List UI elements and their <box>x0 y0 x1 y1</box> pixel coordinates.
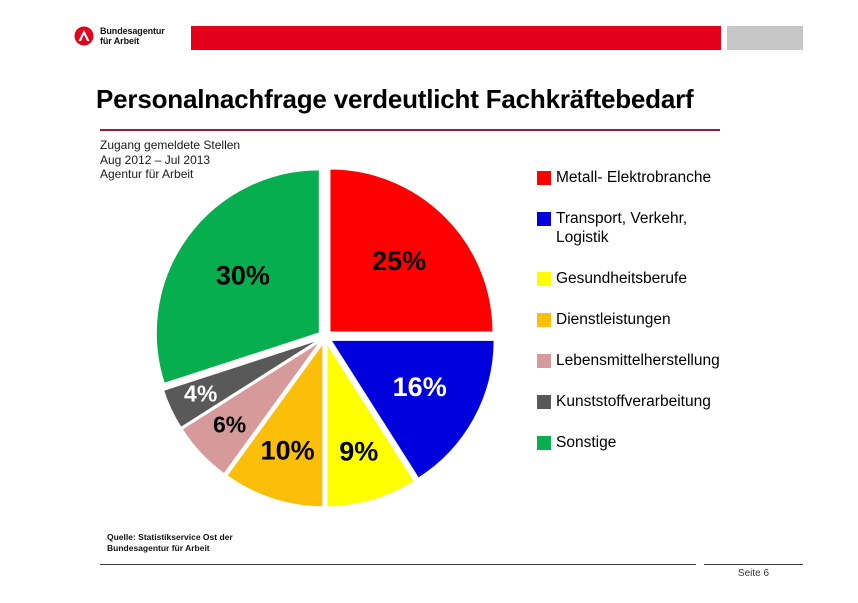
legend-swatch-icon <box>537 313 551 327</box>
legend-swatch-icon <box>537 395 551 409</box>
page-number: Seite 6 <box>704 568 803 579</box>
slide-canvas: Bundesagentur für Arbeit Personalnachfra… <box>0 0 858 603</box>
bundesagentur-logo-text: Bundesagentur für Arbeit <box>100 26 165 46</box>
legend-item-label: Sonstige <box>556 433 616 452</box>
legend-item-label: Kunststoffverarbeitung <box>556 392 711 411</box>
legend-item-label: Transport, Verkehr, Logistik <box>556 209 687 247</box>
legend-item[interactable]: Metall- Elektrobranche <box>537 168 837 187</box>
legend-item[interactable]: Transport, Verkehr, Logistik <box>537 209 837 247</box>
legend-item-label: Metall- Elektrobranche <box>556 168 711 187</box>
pie-slice-group <box>156 169 494 507</box>
chart-legend: Metall- ElektrobrancheTransport, Verkehr… <box>537 168 837 474</box>
pie-chart-svg: 25%16%9%10%6%4%30% <box>155 160 505 520</box>
title-divider <box>100 129 720 131</box>
legend-item[interactable]: Kunststoffverarbeitung <box>537 392 837 411</box>
legend-item-label: Dienstleistungen <box>556 310 671 329</box>
page-title: Personalnachfrage verdeutlicht Fachkräft… <box>96 84 796 115</box>
legend-item[interactable]: Sonstige <box>537 433 837 452</box>
legend-swatch-icon <box>537 272 551 286</box>
legend-swatch-icon <box>537 212 551 226</box>
legend-swatch-icon <box>537 354 551 368</box>
source-note: Quelle: Statistikservice Ost der Bundesa… <box>107 532 233 554</box>
pie-slice-label: 25% <box>372 246 426 276</box>
bundesagentur-logo-icon <box>74 26 94 46</box>
footer-divider-left <box>100 564 696 565</box>
pie-slice-label: 9% <box>339 436 378 466</box>
pie-slice-label: 10% <box>261 435 315 465</box>
legend-item[interactable]: Dienstleistungen <box>537 310 837 329</box>
legend-item-label: Lebensmittelherstellung <box>556 351 720 370</box>
pie-chart: 25%16%9%10%6%4%30% <box>155 160 505 520</box>
legend-item-label: Gesundheitsberufe <box>556 269 687 288</box>
pie-slice-label: 4% <box>184 381 217 407</box>
pie-slice-label: 6% <box>213 412 246 438</box>
pie-slice-label: 30% <box>216 260 270 290</box>
legend-swatch-icon <box>537 171 551 185</box>
legend-swatch-icon <box>537 436 551 450</box>
header-red-bar <box>191 26 721 50</box>
footer-divider-right <box>704 564 803 565</box>
header-gray-bar <box>727 26 803 50</box>
pie-slice-label: 16% <box>393 372 447 402</box>
legend-item[interactable]: Lebensmittelherstellung <box>537 351 837 370</box>
legend-item[interactable]: Gesundheitsberufe <box>537 269 837 288</box>
bundesagentur-logo: Bundesagentur für Arbeit <box>74 26 165 46</box>
